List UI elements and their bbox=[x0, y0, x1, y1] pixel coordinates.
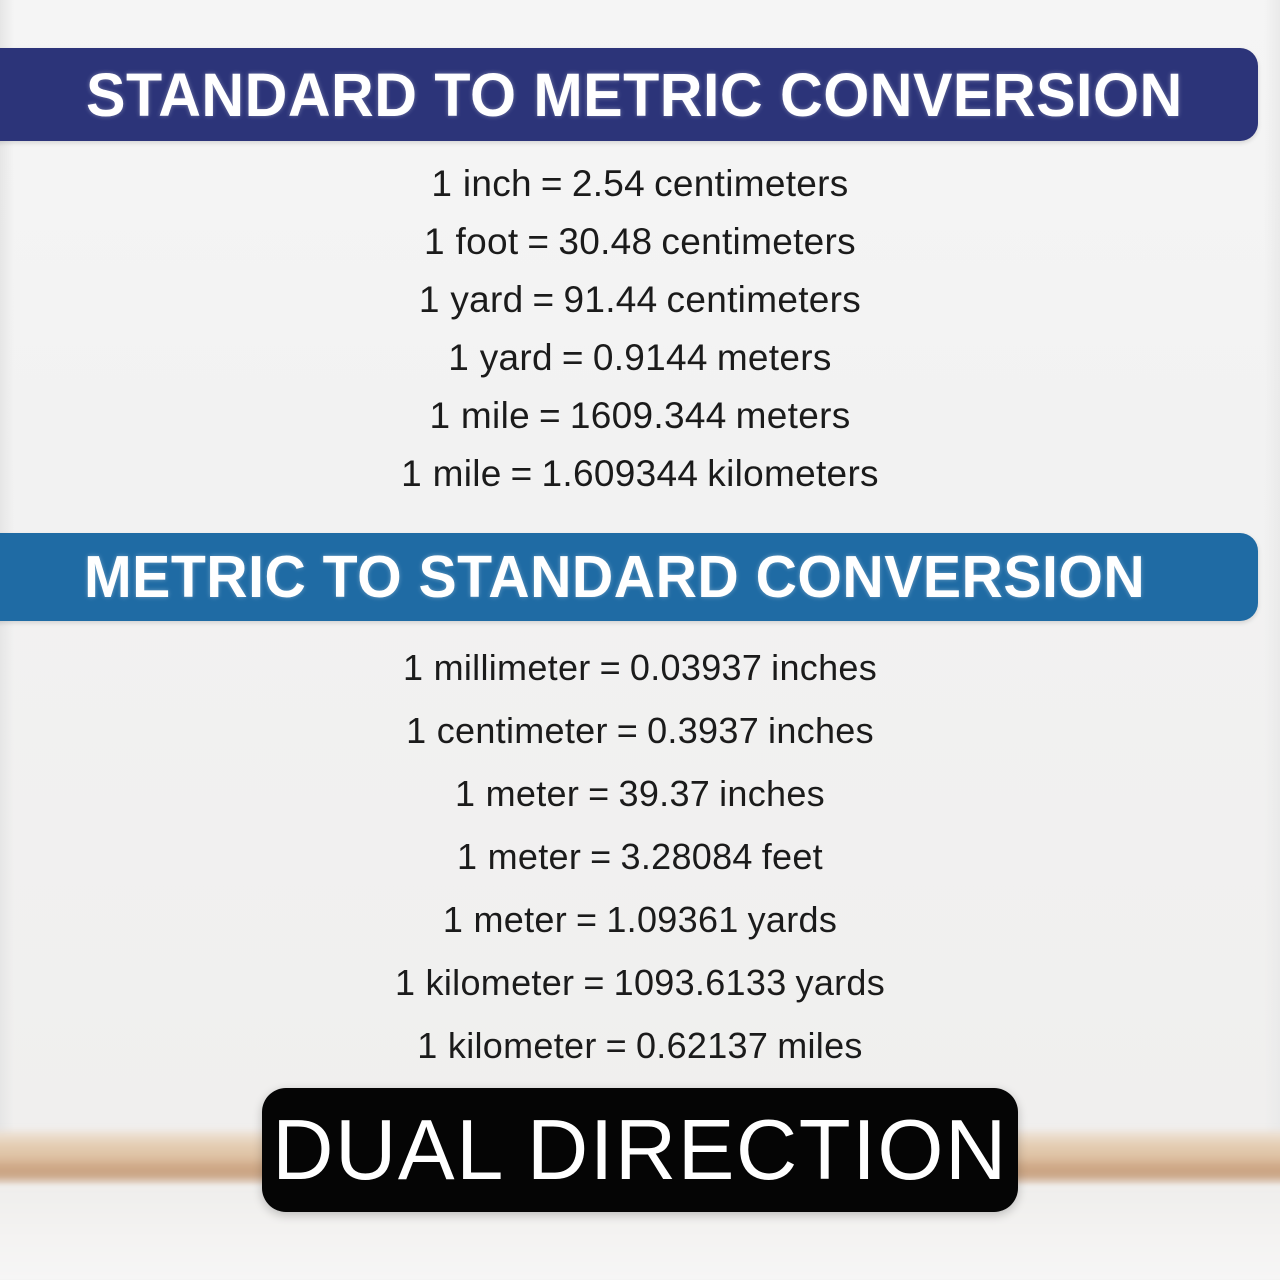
conversion-unit: centimeters bbox=[652, 221, 856, 262]
equals-sign: = bbox=[524, 279, 564, 320]
conversion-row: 1 millimeter=0.03937inches bbox=[0, 636, 1280, 699]
conversion-value: 2.54 bbox=[572, 163, 645, 204]
conversion-quantity: 1 inch bbox=[431, 163, 532, 204]
conversion-value: 1609.344 bbox=[570, 395, 727, 436]
equals-sign: = bbox=[581, 836, 620, 877]
conversion-unit: centimeters bbox=[645, 163, 849, 204]
equals-sign: = bbox=[567, 899, 606, 940]
conversion-value: 0.3937 bbox=[647, 710, 759, 751]
section-title-standard-to-metric: STANDARD TO METRIC CONVERSION bbox=[86, 60, 1183, 130]
conversion-row: 1 yard=0.9144meters bbox=[0, 329, 1280, 387]
conversion-row: 1 mile=1609.344meters bbox=[0, 387, 1280, 445]
conversion-row: 1 meter=1.09361yards bbox=[0, 888, 1280, 951]
conversion-unit: inches bbox=[762, 647, 877, 688]
equals-sign: = bbox=[597, 1025, 636, 1066]
conversion-unit: centimeters bbox=[658, 279, 862, 320]
conversion-quantity: 1 centimeter bbox=[406, 710, 608, 751]
conversion-quantity: 1 meter bbox=[455, 773, 579, 814]
conversion-quantity: 1 meter bbox=[457, 836, 581, 877]
conversion-list-metric-to-standard: 1 millimeter=0.03937inches 1 centimeter=… bbox=[0, 636, 1280, 1077]
conversion-value: 0.03937 bbox=[630, 647, 762, 688]
conversion-unit: inches bbox=[710, 773, 825, 814]
caption-text: DUAL DIRECTION bbox=[272, 1108, 1008, 1193]
conversion-unit: meters bbox=[727, 395, 851, 436]
conversion-row: 1 meter=39.37inches bbox=[0, 762, 1280, 825]
conversion-value: 39.37 bbox=[619, 773, 711, 814]
conversion-quantity: 1 kilometer bbox=[417, 1025, 596, 1066]
conversion-value: 3.28084 bbox=[621, 836, 753, 877]
equals-sign: = bbox=[608, 710, 647, 751]
conversion-unit: inches bbox=[759, 710, 874, 751]
equals-sign: = bbox=[591, 647, 630, 688]
conversion-unit: yards bbox=[787, 962, 886, 1003]
conversion-row: 1 mile=1.609344kilometers bbox=[0, 445, 1280, 503]
equals-sign: = bbox=[574, 962, 613, 1003]
conversion-row: 1 inch=2.54centimeters bbox=[0, 155, 1280, 213]
conversion-quantity: 1 meter bbox=[443, 899, 567, 940]
equals-sign: = bbox=[502, 453, 542, 494]
conversion-quantity: 1 mile bbox=[401, 453, 502, 494]
equals-sign: = bbox=[532, 163, 572, 204]
section-banner-standard-to-metric: STANDARD TO METRIC CONVERSION bbox=[0, 48, 1258, 141]
conversion-row: 1 foot=30.48centimeters bbox=[0, 213, 1280, 271]
conversion-row: 1 yard=91.44centimeters bbox=[0, 271, 1280, 329]
equals-sign: = bbox=[518, 221, 558, 262]
conversion-list-standard-to-metric: 1 inch=2.54centimeters 1 foot=30.48centi… bbox=[0, 155, 1280, 503]
conversion-unit: yards bbox=[739, 899, 838, 940]
conversion-row: 1 meter=3.28084feet bbox=[0, 825, 1280, 888]
conversion-value: 30.48 bbox=[558, 221, 652, 262]
section-banner-metric-to-standard: METRIC TO STANDARD CONVERSION bbox=[0, 533, 1258, 621]
conversion-value: 91.44 bbox=[563, 279, 657, 320]
caption-banner: DUAL DIRECTION bbox=[262, 1088, 1018, 1212]
conversion-quantity: 1 foot bbox=[424, 221, 518, 262]
conversion-quantity: 1 yard bbox=[448, 337, 553, 378]
conversion-row: 1 kilometer=0.62137miles bbox=[0, 1014, 1280, 1077]
conversion-unit: meters bbox=[708, 337, 832, 378]
conversion-value: 1.609344 bbox=[542, 453, 699, 494]
equals-sign: = bbox=[553, 337, 593, 378]
conversion-row: 1 centimeter=0.3937inches bbox=[0, 699, 1280, 762]
conversion-value: 1093.6133 bbox=[614, 962, 787, 1003]
conversion-quantity: 1 mile bbox=[429, 395, 530, 436]
conversion-quantity: 1 millimeter bbox=[403, 647, 591, 688]
conversion-quantity: 1 kilometer bbox=[395, 962, 574, 1003]
conversion-chart-slide: STANDARD TO METRIC CONVERSION 1 inch=2.5… bbox=[0, 0, 1280, 1280]
equals-sign: = bbox=[579, 773, 618, 814]
conversion-row: 1 kilometer=1093.6133yards bbox=[0, 951, 1280, 1014]
equals-sign: = bbox=[530, 395, 570, 436]
conversion-value: 0.9144 bbox=[593, 337, 708, 378]
conversion-unit: miles bbox=[768, 1025, 863, 1066]
section-title-metric-to-standard: METRIC TO STANDARD CONVERSION bbox=[84, 543, 1145, 611]
conversion-value: 0.62137 bbox=[636, 1025, 768, 1066]
conversion-unit: feet bbox=[753, 836, 823, 877]
conversion-unit: kilometers bbox=[698, 453, 879, 494]
conversion-quantity: 1 yard bbox=[419, 279, 524, 320]
conversion-value: 1.09361 bbox=[606, 899, 738, 940]
